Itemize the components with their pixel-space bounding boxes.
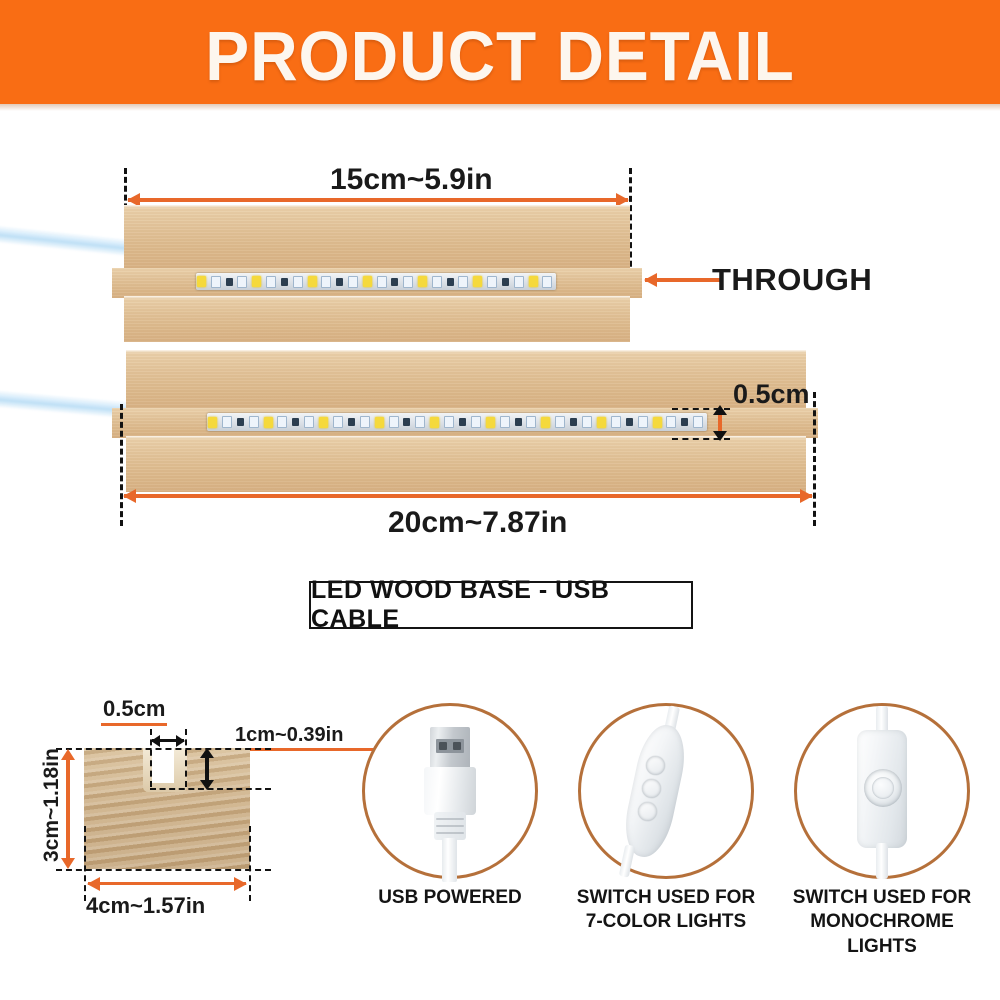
led-w xyxy=(321,276,331,288)
inline-switch-rocker-knob-inner xyxy=(872,777,894,799)
led-w xyxy=(638,416,648,428)
inline-switch-wire-bottom xyxy=(876,843,888,879)
xsec-groove-width-rule xyxy=(101,723,167,726)
usb-cable-wire xyxy=(442,838,457,882)
led-b xyxy=(570,418,577,426)
xsec-groove-depth-label: 1cm~0.39in xyxy=(235,724,343,747)
usb-plug-body xyxy=(424,767,476,815)
top-led-strip xyxy=(196,273,556,290)
section-title-text: LED WOOD BASE - USB CABLE xyxy=(311,576,691,634)
usb-contact-right xyxy=(453,742,461,750)
section-title-box: LED WOOD BASE - USB CABLE xyxy=(309,581,693,629)
led-w xyxy=(389,416,399,428)
xsec-ext-groove-left xyxy=(150,729,152,787)
led-y xyxy=(430,417,439,428)
xsec-groove-width-label: 0.5cm xyxy=(103,696,165,722)
xsec-height-label: 3cm~1.18in xyxy=(40,748,64,862)
led-y xyxy=(597,417,606,428)
groove-depth-label: 0.5cm xyxy=(733,379,810,410)
led-b xyxy=(336,278,343,286)
led-w xyxy=(666,416,676,428)
led-b xyxy=(348,418,355,426)
led-b xyxy=(226,278,233,286)
xsec-groove-width-arrow xyxy=(152,739,184,742)
led-y xyxy=(529,276,538,287)
led-w xyxy=(693,416,703,428)
led-w xyxy=(403,276,413,288)
bottom-dim-ext-right xyxy=(813,392,816,526)
led-w xyxy=(249,416,259,428)
led-w xyxy=(211,276,221,288)
led-w xyxy=(266,276,276,288)
led-y xyxy=(252,276,261,287)
top-base-back-board xyxy=(124,205,630,270)
product-detail-infographic: PRODUCT DETAIL 15cm~5.9in THROUGH 0.5cm xyxy=(0,0,1000,1000)
led-b xyxy=(403,418,410,426)
led-w xyxy=(444,416,454,428)
led-w xyxy=(415,416,425,428)
led-w xyxy=(304,416,314,428)
led-y xyxy=(197,276,206,287)
led-y xyxy=(418,276,427,287)
led-w xyxy=(611,416,621,428)
led-w xyxy=(500,416,510,428)
led-b xyxy=(459,418,466,426)
xsec-ext-right xyxy=(249,826,251,901)
top-base-front-board xyxy=(124,296,630,342)
led-y xyxy=(208,417,217,428)
led-y xyxy=(308,276,317,287)
through-arrow xyxy=(645,278,720,282)
bottom-led-strip xyxy=(207,413,707,431)
led-w xyxy=(348,276,358,288)
usb-ridge-3 xyxy=(436,832,464,834)
xsec-ext-bottom xyxy=(56,869,271,871)
led-w xyxy=(582,416,592,428)
led-b xyxy=(391,278,398,286)
led-y xyxy=(473,276,482,287)
led-w xyxy=(458,276,468,288)
led-w xyxy=(237,276,247,288)
usb-ridge-1 xyxy=(436,818,464,820)
page-title: PRODUCT DETAIL xyxy=(30,16,970,96)
led-y xyxy=(653,417,662,428)
led-b xyxy=(281,278,288,286)
top-dim-arrow xyxy=(128,198,628,202)
groove-depth-arrow xyxy=(718,414,722,432)
led-b xyxy=(626,418,633,426)
led-w xyxy=(471,416,481,428)
top-cable xyxy=(0,225,135,258)
led-w xyxy=(333,416,343,428)
xsec-depth-arrow xyxy=(205,757,209,781)
led-y xyxy=(363,276,372,287)
bottom-base-back-board xyxy=(126,350,806,410)
led-w xyxy=(360,416,370,428)
led-w xyxy=(277,416,287,428)
xsec-ext-left xyxy=(84,826,86,901)
bottom-base-front-board xyxy=(126,436,806,492)
led-b xyxy=(237,418,244,426)
led-w xyxy=(293,276,303,288)
xsec-groove-void xyxy=(152,748,174,783)
led-b xyxy=(447,278,454,286)
through-label: THROUGH xyxy=(712,262,872,298)
feature-caption-usb: USB POWERED xyxy=(350,886,550,910)
xsec-width-label: 4cm~1.57in xyxy=(86,893,205,919)
banner-shadow xyxy=(0,104,1000,111)
led-w xyxy=(542,276,552,288)
bottom-dim-arrow xyxy=(124,494,812,498)
led-w xyxy=(222,416,232,428)
led-b xyxy=(292,418,299,426)
usb-contact-left xyxy=(439,742,447,750)
feature-caption-inline-switch: SWITCH USED FOR MONOCHROME LIGHTS xyxy=(777,886,987,959)
led-b xyxy=(681,418,688,426)
led-b xyxy=(502,278,509,286)
led-b xyxy=(515,418,522,426)
bottom-dim-ext-left xyxy=(120,404,123,526)
xsec-height-arrow xyxy=(66,758,70,860)
led-y xyxy=(541,417,550,428)
bottom-length-label: 20cm~7.87in xyxy=(388,506,567,540)
led-y xyxy=(486,417,495,428)
led-w xyxy=(432,276,442,288)
led-w xyxy=(377,276,387,288)
feature-caption-remote-switch: SWITCH USED FOR 7-COLOR LIGHTS xyxy=(566,886,766,935)
xsec-ext-groove-right xyxy=(185,729,187,787)
led-w xyxy=(526,416,536,428)
led-w xyxy=(487,276,497,288)
xsec-width-arrow xyxy=(88,882,246,885)
top-length-label: 15cm~5.9in xyxy=(330,163,493,197)
xsec-ext-top xyxy=(56,748,271,750)
usb-ridge-2 xyxy=(436,825,464,827)
led-w xyxy=(514,276,524,288)
led-y xyxy=(319,417,328,428)
led-y xyxy=(264,417,273,428)
led-y xyxy=(375,417,384,428)
header-banner: PRODUCT DETAIL xyxy=(0,0,1000,104)
led-w xyxy=(555,416,565,428)
